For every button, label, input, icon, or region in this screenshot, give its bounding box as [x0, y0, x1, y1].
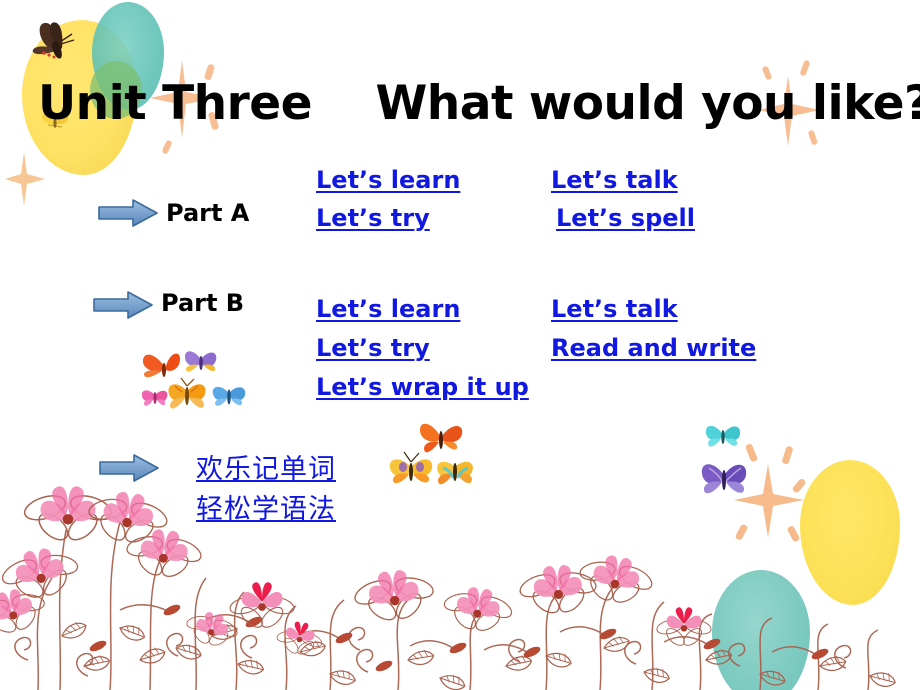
page-title: Unit Three What would you like? [38, 80, 920, 127]
link-part-a-lets-try[interactable]: Let’s try [316, 204, 430, 232]
part-a-label: Part A [166, 199, 249, 227]
link-part-b-lets-try[interactable]: Let’s try [316, 334, 430, 362]
blue-butterfly-icon [213, 387, 246, 406]
yellow-cyan-butterfly-icon [437, 462, 473, 485]
orange-striped-butterfly-icon [168, 378, 205, 409]
part-b-label: Part B [161, 289, 244, 317]
dark-brown-butterfly-icon [30, 18, 88, 70]
link-part-b-lets-learn[interactable]: Let’s learn [316, 295, 460, 323]
purple-yellow-butterfly-icon [185, 351, 216, 372]
link-part-b-lets-talk[interactable]: Let’s talk [551, 295, 678, 323]
purple-butterfly-icon [695, 450, 757, 506]
link-part-a-lets-learn[interactable]: Let’s learn [316, 166, 460, 194]
presentation-slide: Unit Three What would you like? Part A L… [0, 0, 920, 690]
butterfly-cluster-icon [140, 344, 260, 422]
orange-butterfly-icon [143, 354, 180, 378]
link-chinese-happy-words[interactable]: 欢乐记单词 [196, 447, 336, 486]
butterfly-group-center-icon [380, 418, 490, 504]
link-part-a-lets-talk[interactable]: Let’s talk [551, 166, 678, 194]
link-part-b-read-and-write[interactable]: Read and write [551, 334, 756, 362]
link-part-b-lets-wrap-it-up[interactable]: Let’s wrap it up [316, 373, 529, 401]
red-orange-butterfly-icon [420, 424, 462, 453]
right-arrow-icon-extra [98, 453, 160, 483]
pink-butterfly-icon [142, 390, 167, 405]
link-chinese-easy-grammar[interactable]: 轻松学语法 [196, 487, 336, 526]
right-arrow-icon-part-a [97, 198, 159, 228]
sparkle-icon-left [4, 150, 48, 208]
right-arrow-icon-part-b [92, 290, 154, 320]
yellow-orange-butterfly-icon [390, 452, 432, 483]
link-part-a-lets-spell[interactable]: Let’s spell [556, 204, 695, 232]
